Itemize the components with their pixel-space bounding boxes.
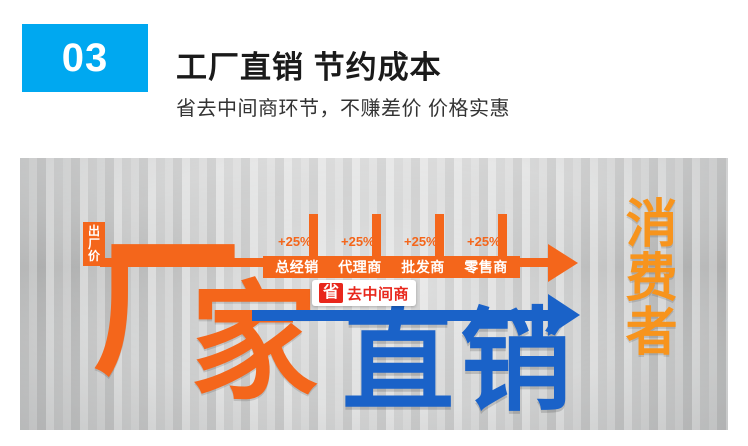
consumer-label: 消费者	[618, 196, 673, 358]
header-section: 03 工厂直销 节约成本 省去中间商环节，不赚差价 价格实惠	[0, 0, 748, 158]
direct-sale-arrow-head	[548, 294, 580, 336]
big-character-home: 家	[190, 280, 318, 408]
big-character-direct-sale: 直销	[342, 306, 578, 418]
step-number-text: 03	[62, 38, 109, 78]
skip-middleman-pill: 省 去中间商	[312, 280, 416, 306]
chain-markup-0: +25%	[278, 234, 312, 249]
page-title: 工厂直销 节约成本	[176, 42, 442, 87]
direct-sale-arrow-line	[252, 310, 552, 321]
skip-middleman-text: 去中间商	[347, 283, 409, 304]
chain-stage-0: 总经销	[263, 256, 331, 278]
chain-markup-3: +25%	[467, 234, 501, 249]
page-subtitle: 省去中间商环节，不赚差价 价格实惠	[176, 92, 510, 121]
distribution-chain-arrow-head	[548, 244, 578, 282]
step-number-badge: 03	[22, 24, 148, 92]
banner-illustration: 厂 家 直销 出厂价 +25% +25% +25% +25% 总经销 代理商 批…	[20, 158, 728, 430]
chain-stage-3: 零售商	[452, 256, 520, 278]
skip-middleman-highlight: 省	[319, 283, 343, 303]
chain-stage-1: 代理商	[326, 256, 394, 278]
chain-markup-2: +25%	[404, 234, 438, 249]
chain-stage-2: 批发商	[389, 256, 457, 278]
chain-markup-1: +25%	[341, 234, 375, 249]
bottom-white-strip	[0, 430, 748, 446]
